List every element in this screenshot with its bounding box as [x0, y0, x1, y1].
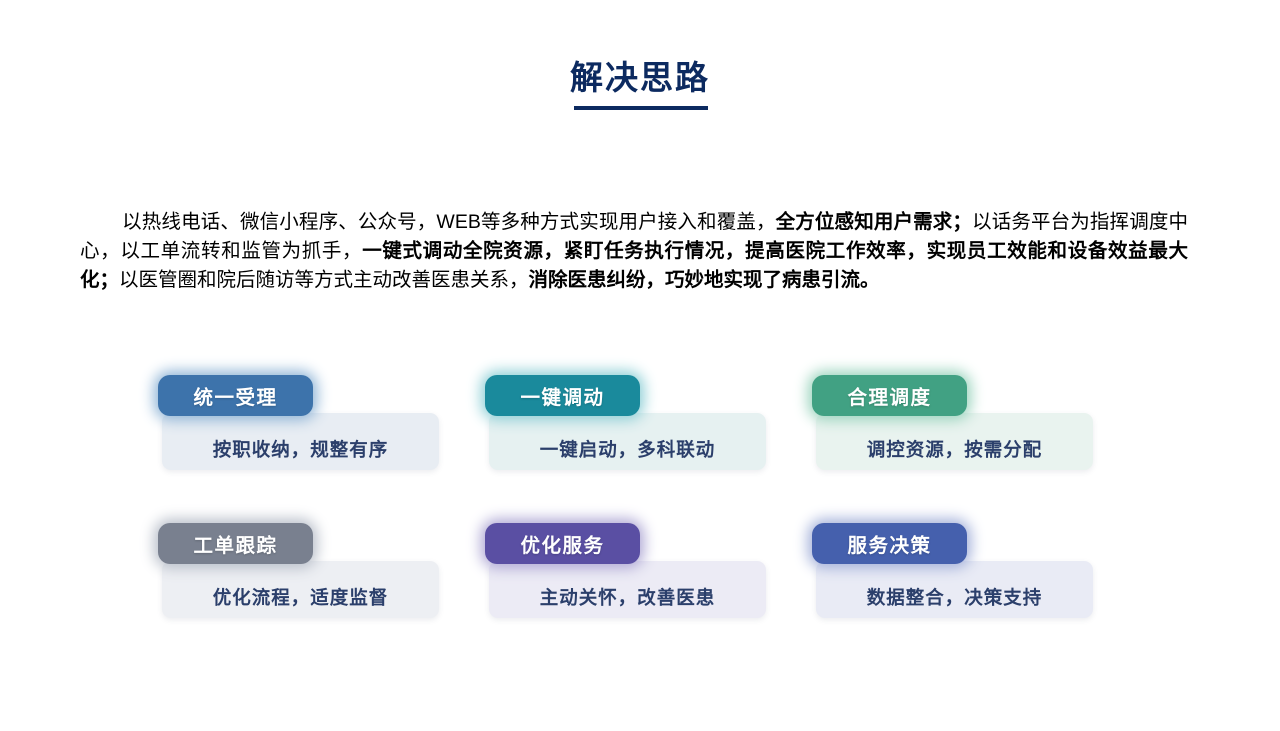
- card-body-label: 调控资源，按需分配: [867, 422, 1043, 462]
- card-body-label: 优化流程，适度监督: [213, 570, 389, 610]
- card-header-label: 服务决策: [847, 529, 931, 558]
- card-header-pill[interactable]: 一键调动: [485, 375, 640, 416]
- card-body: 调控资源，按需分配: [816, 413, 1093, 470]
- card-body-label: 按职收纳，规整有序: [213, 422, 389, 462]
- card-body: 一键启动，多科联动: [489, 413, 766, 470]
- card-body-label: 主动关怀，改善医患: [540, 570, 716, 610]
- card-body: 主动关怀，改善医患: [489, 561, 766, 618]
- solution-card[interactable]: 优化流程，适度监督工单跟踪: [158, 523, 439, 619]
- paragraph-text: 以热线电话、微信小程序、公众号，WEB等多种方式实现用户接入和覆盖，: [122, 211, 776, 233]
- card-body-label: 一键启动，多科联动: [540, 422, 716, 462]
- paragraph-emphasis: 消除医患纠纷，巧妙地实现了病患引流。: [529, 269, 880, 291]
- card-row: 优化流程，适度监督工单跟踪主动关怀，改善医患优化服务数据整合，决策支持服务决策: [158, 523, 1118, 671]
- card-body: 按职收纳，规整有序: [162, 413, 439, 470]
- solution-card[interactable]: 一键启动，多科联动一键调动: [485, 375, 766, 471]
- page-title-container: 解决思路: [0, 58, 1280, 104]
- card-row: 按职收纳，规整有序统一受理一键启动，多科联动一键调动调控资源，按需分配合理调度: [158, 375, 1118, 523]
- intro-paragraph: 以热线电话、微信小程序、公众号，WEB等多种方式实现用户接入和覆盖，全方位感知用…: [80, 208, 1188, 295]
- card-header-label: 工单跟踪: [193, 529, 277, 558]
- card-header-pill[interactable]: 服务决策: [812, 523, 967, 564]
- solution-card[interactable]: 调控资源，按需分配合理调度: [812, 375, 1093, 471]
- card-body: 数据整合，决策支持: [816, 561, 1093, 618]
- card-header-pill[interactable]: 统一受理: [158, 375, 313, 416]
- solution-cards: 按职收纳，规整有序统一受理一键启动，多科联动一键调动调控资源，按需分配合理调度优…: [158, 375, 1118, 671]
- solution-card[interactable]: 主动关怀，改善医患优化服务: [485, 523, 766, 619]
- card-header-label: 统一受理: [193, 381, 277, 410]
- card-header-label: 优化服务: [520, 529, 604, 558]
- page-title: 解决思路: [566, 58, 714, 104]
- paragraph-text: 以医管圈和院后随访等方式主动改善医患关系，: [119, 269, 529, 291]
- card-header-pill[interactable]: 优化服务: [485, 523, 640, 564]
- title-underline: [574, 106, 708, 110]
- card-header-label: 合理调度: [847, 381, 931, 410]
- paragraph-emphasis: 全方位感知用户需求；: [776, 211, 972, 233]
- card-header-pill[interactable]: 工单跟踪: [158, 523, 313, 564]
- card-header-label: 一键调动: [520, 381, 604, 410]
- card-header-pill[interactable]: 合理调度: [812, 375, 967, 416]
- card-body: 优化流程，适度监督: [162, 561, 439, 618]
- solution-card[interactable]: 数据整合，决策支持服务决策: [812, 523, 1093, 619]
- solution-card[interactable]: 按职收纳，规整有序统一受理: [158, 375, 439, 471]
- card-body-label: 数据整合，决策支持: [867, 570, 1043, 610]
